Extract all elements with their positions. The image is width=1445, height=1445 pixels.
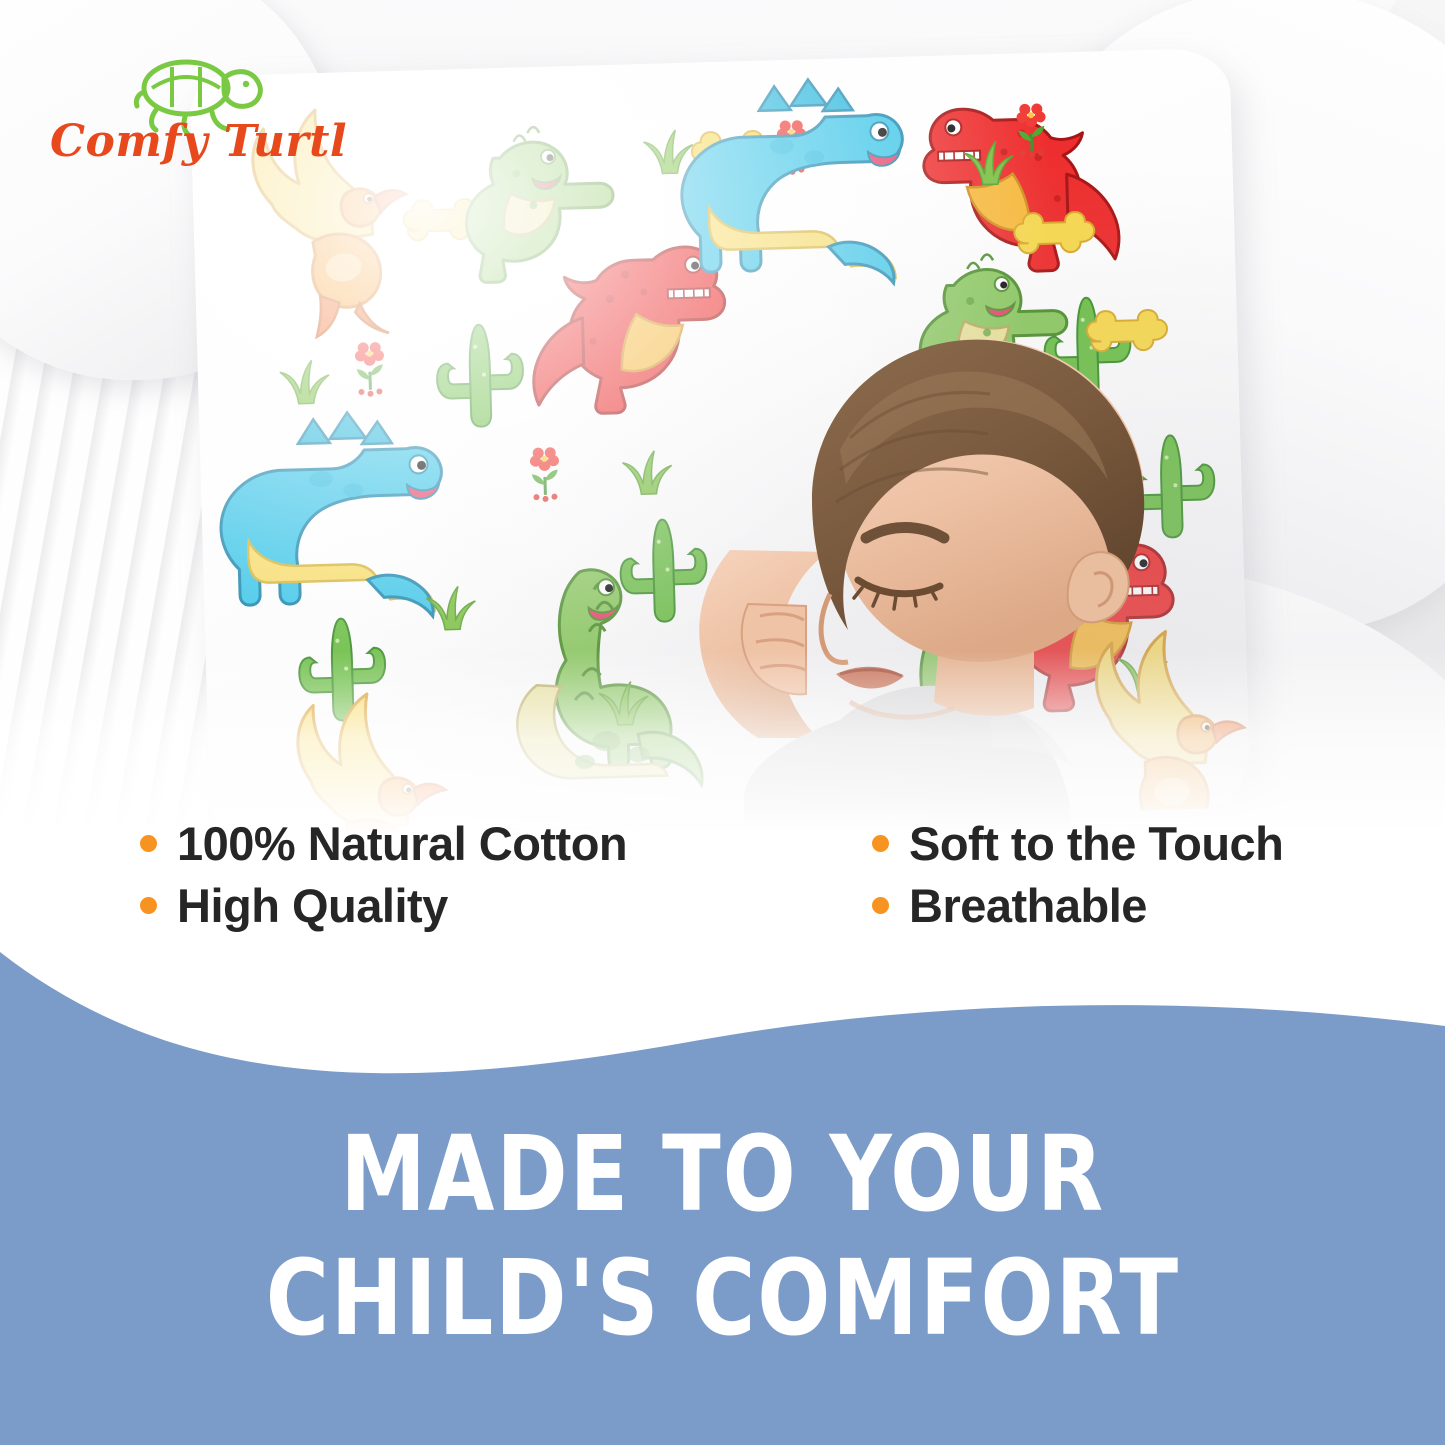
bullet-dot-icon xyxy=(140,897,157,914)
feature-column-right: Soft to the Touch Breathable xyxy=(872,812,1283,936)
brand-logo[interactable]: Comfy Turtles xyxy=(46,52,346,177)
child-illustration xyxy=(690,250,1310,860)
feature-label: 100% Natural Cotton xyxy=(177,820,627,867)
feature-item: High Quality xyxy=(140,874,627,936)
bullet-dot-icon xyxy=(140,835,157,852)
brand-name: Comfy Turtles xyxy=(50,116,346,167)
tagline-line-1: MADE TO YOUR xyxy=(340,1125,1105,1225)
product-photo: Comfy Turtles xyxy=(0,0,1445,860)
feature-item: Soft to the Touch xyxy=(872,812,1283,874)
product-marketing-image: Comfy Turtles 100% Natural Cotton High Q… xyxy=(0,0,1445,1445)
tagline-banner: MADE TO YOUR CHILD'S COMFORT xyxy=(0,930,1445,1445)
tagline-line-2: CHILD'S COMFORT xyxy=(265,1249,1179,1349)
bullet-dot-icon xyxy=(872,897,889,914)
feature-label: High Quality xyxy=(177,882,448,929)
feature-label: Soft to the Touch xyxy=(909,820,1283,867)
tagline-text: MADE TO YOUR CHILD'S COMFORT xyxy=(0,930,1445,1445)
sleeping-child xyxy=(690,250,1310,860)
bullet-dot-icon xyxy=(872,835,889,852)
feature-label: Breathable xyxy=(909,882,1147,929)
feature-item: Breathable xyxy=(872,874,1283,936)
feature-item: 100% Natural Cotton xyxy=(140,812,627,874)
feature-column-left: 100% Natural Cotton High Quality xyxy=(140,812,627,936)
logo-svg: Comfy Turtles xyxy=(46,52,346,172)
